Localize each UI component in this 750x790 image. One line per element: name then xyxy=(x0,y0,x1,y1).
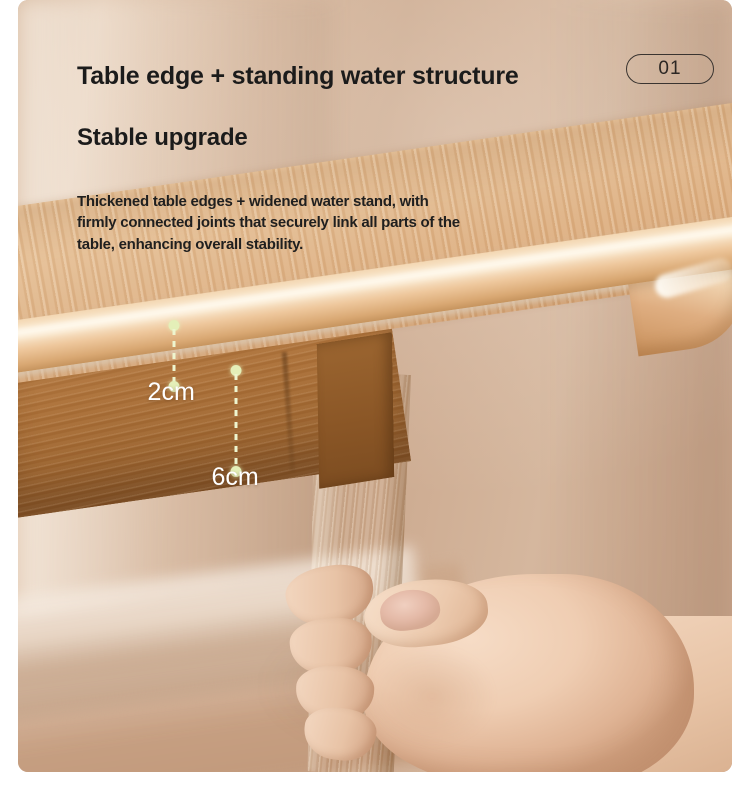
product-photo: 2cm 6cm Table edge + standing water stru… xyxy=(18,0,732,772)
dimension-callout-2cm: 2cm xyxy=(166,320,182,392)
step-badge: 01 xyxy=(626,54,714,84)
callout-dashed-line xyxy=(173,329,176,383)
product-feature-poster: 2cm 6cm Table edge + standing water stru… xyxy=(0,0,750,790)
description-line-2: firmly connected joints that securely li… xyxy=(77,212,537,233)
callout-dashed-line xyxy=(235,374,238,468)
table-apron-side-face xyxy=(317,332,395,488)
dimension-callout-6cm: 6cm xyxy=(228,365,244,477)
callout-label-2cm: 2cm xyxy=(148,378,195,407)
hand-gripping-leg xyxy=(276,556,732,772)
description-line-3: table, enhancing overall stability. xyxy=(77,234,537,255)
feature-title: Table edge + standing water structure xyxy=(77,62,519,91)
step-badge-number: 01 xyxy=(658,58,681,80)
description-line-1: Thickened table edges + widened water st… xyxy=(77,191,537,212)
feature-subtitle: Stable upgrade xyxy=(77,124,248,152)
feature-description: Thickened table edges + widened water st… xyxy=(77,191,537,255)
callout-label-6cm: 6cm xyxy=(211,463,258,492)
knuckle-shading xyxy=(372,648,522,768)
